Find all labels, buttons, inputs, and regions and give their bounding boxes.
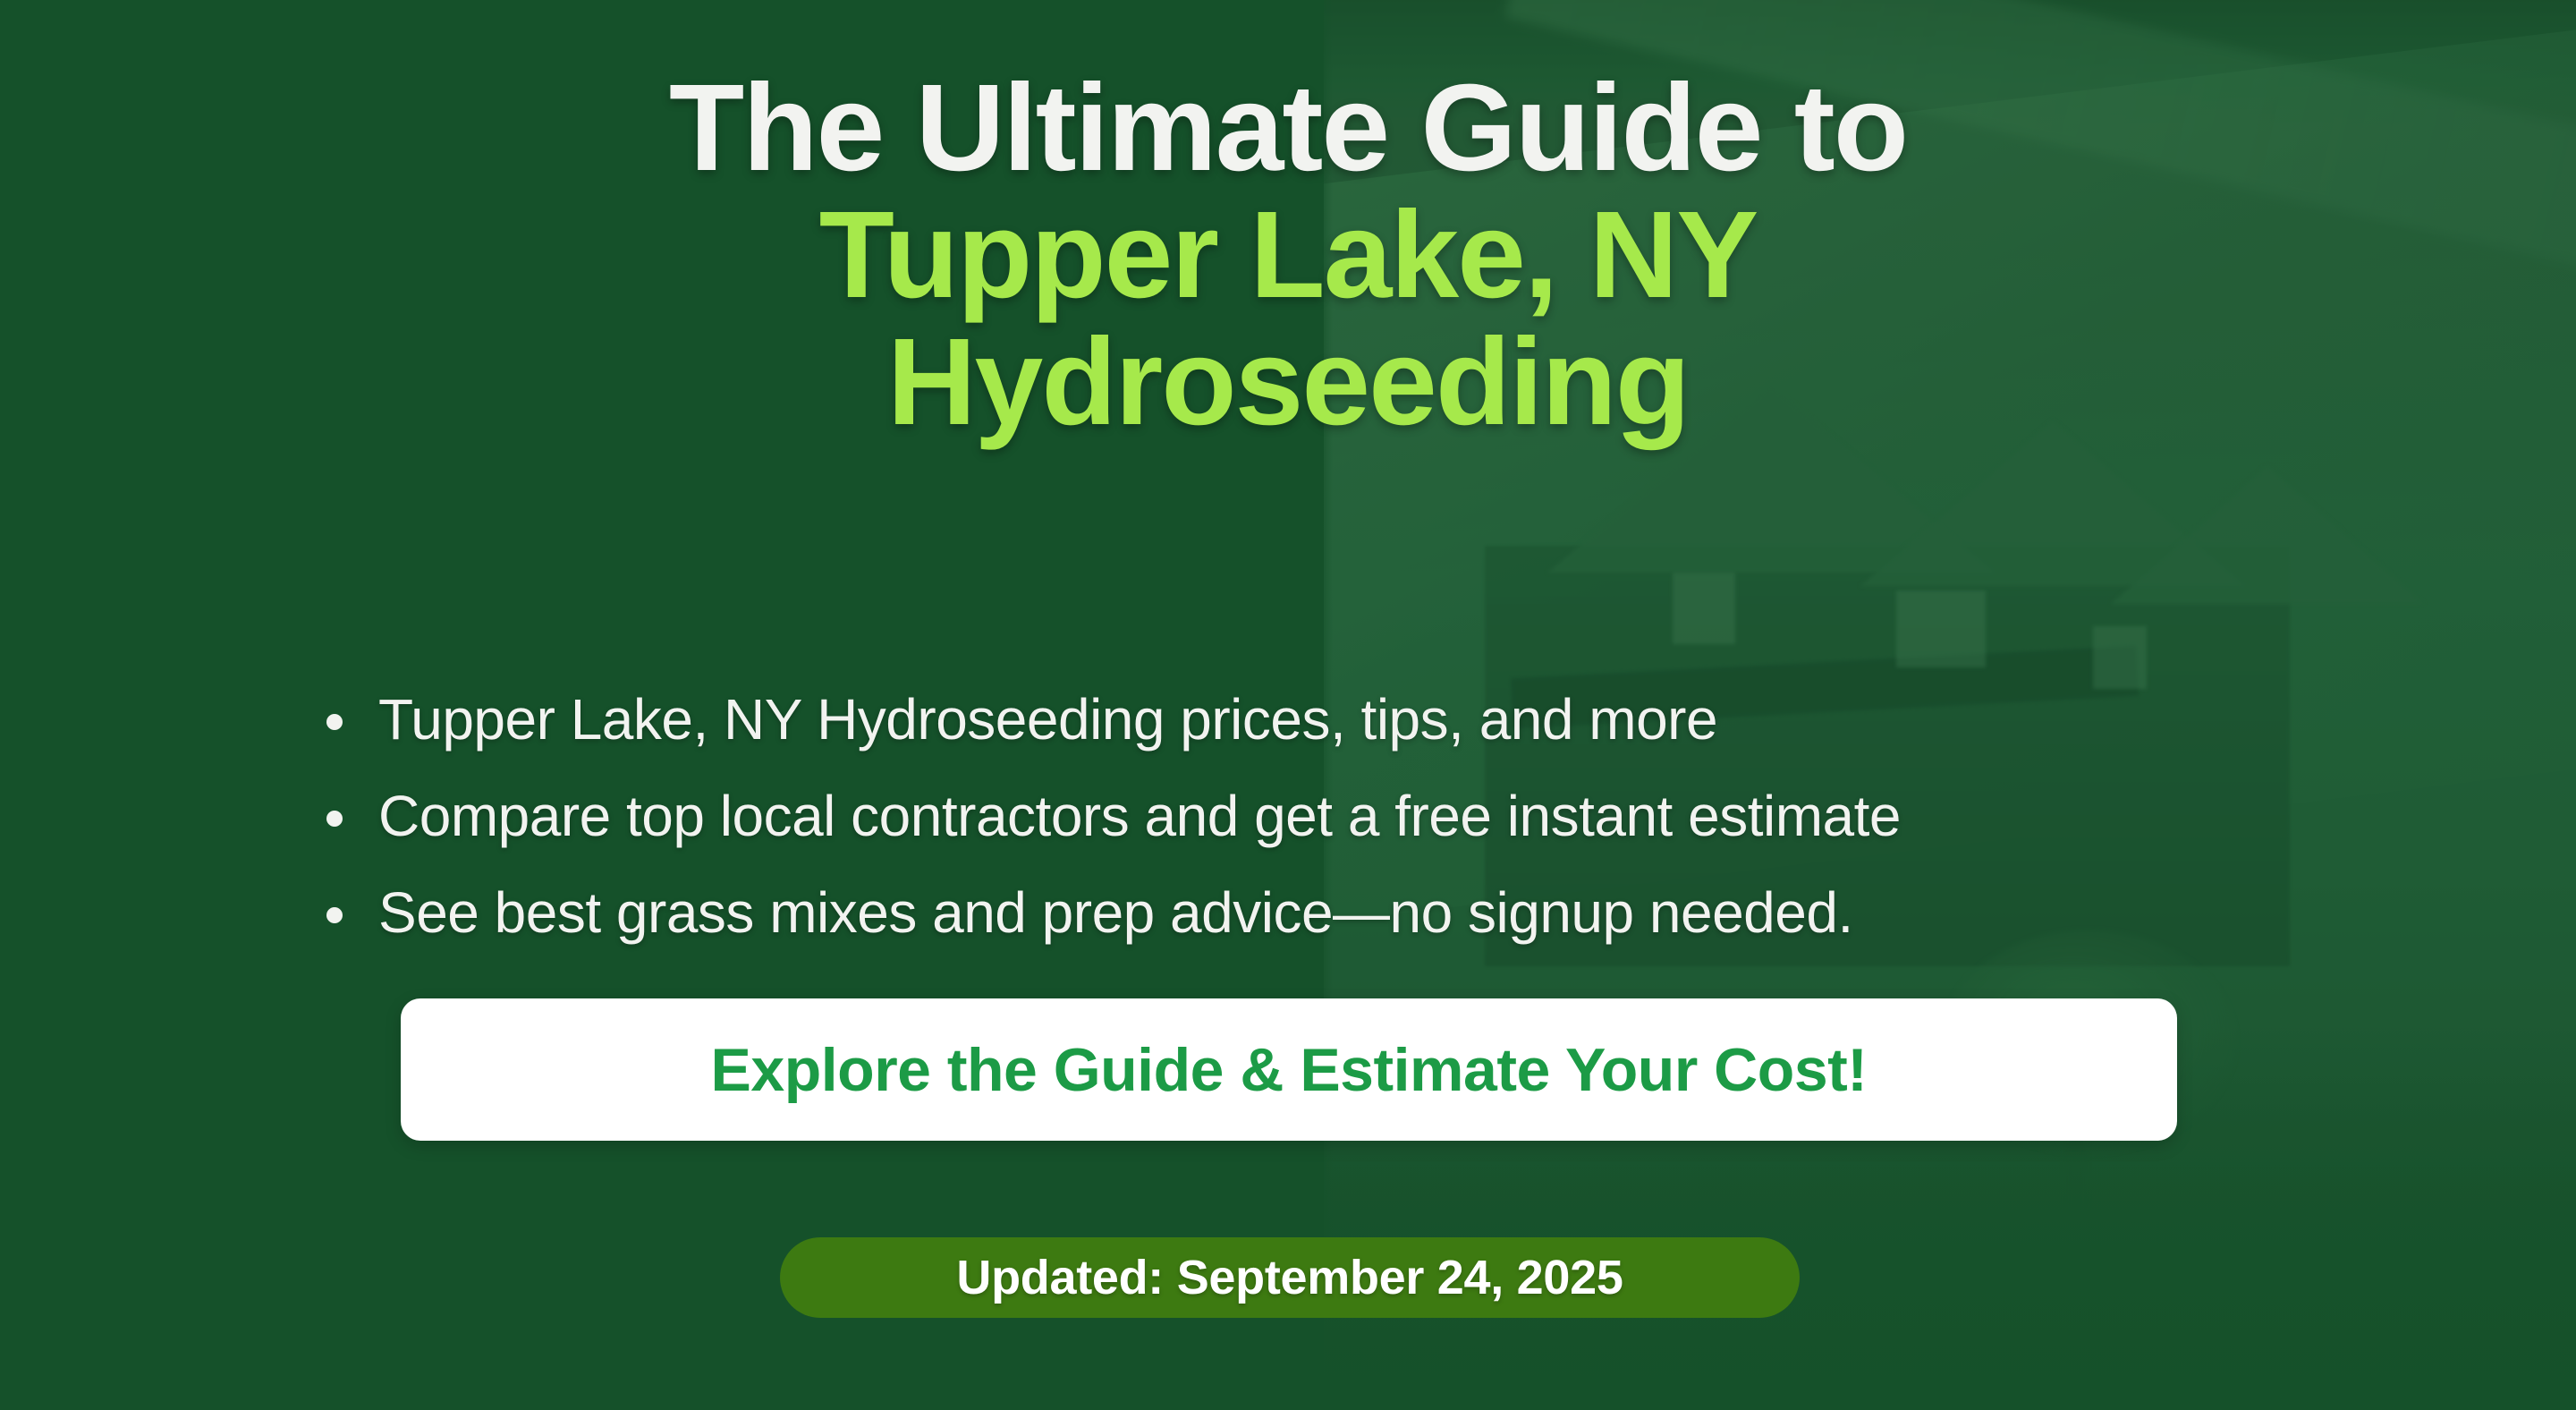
headline-line-3-accent: Hydroseeding — [0, 319, 2576, 446]
hero-banner: The Ultimate Guide to Tupper Lake, NY Hy… — [0, 0, 2576, 1410]
page-title: The Ultimate Guide to Tupper Lake, NY Hy… — [0, 64, 2576, 446]
headline-line-2-accent: Tupper Lake, NY — [0, 191, 2576, 319]
list-item: See best grass mixes and prep advice—no … — [318, 875, 1901, 952]
benefits-list: Tupper Lake, NY Hydroseeding prices, tip… — [318, 682, 1901, 971]
list-item: Tupper Lake, NY Hydroseeding prices, tip… — [318, 682, 1901, 759]
list-item: Compare top local contractors and get a … — [318, 778, 1901, 855]
hero-content: The Ultimate Guide to Tupper Lake, NY Hy… — [0, 0, 2576, 1410]
updated-date-badge: Updated: September 24, 2025 — [780, 1237, 1800, 1318]
headline-line-1: The Ultimate Guide to — [0, 64, 2576, 191]
explore-guide-cta-button[interactable]: Explore the Guide & Estimate Your Cost! — [401, 998, 2177, 1141]
